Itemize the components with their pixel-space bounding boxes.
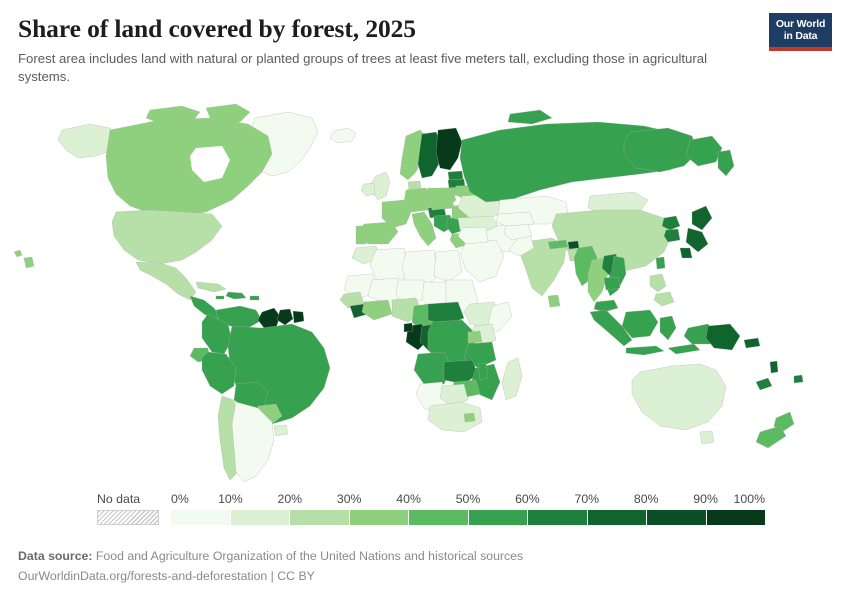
country-central-america[interactable] [190,296,220,320]
legend-color-bins[interactable] [171,510,765,525]
owid-logo-line1: Our World [776,18,825,30]
legend-bin-90to100[interactable] [707,510,766,525]
owid-logo-line2: in Data [784,30,818,42]
country-cambodia[interactable] [604,277,620,290]
country-vanuatu[interactable] [770,361,778,373]
legend-ticks: 0%10%20%30%40%50%60%70%80%90%100% [171,492,765,508]
country-lesser-sunda[interactable] [668,344,700,354]
country-czech-slovakia[interactable] [430,199,454,210]
legend-tick-40pct: 40% [396,492,421,506]
legend-bin-40to50[interactable] [409,510,469,525]
country-japan-kyushu[interactable] [680,248,692,258]
legend-nodata-swatch[interactable] [97,510,159,525]
legend-bin-0to10[interactable] [171,510,231,525]
legend-tick-30pct: 30% [337,492,362,506]
legend-tick-70pct: 70% [574,492,599,506]
country-finland[interactable] [436,128,462,170]
country-iceland[interactable] [330,128,356,143]
legend-tick-10pct: 10% [218,492,243,506]
country-russia-far-east[interactable] [686,136,722,166]
data-source-text: Food and Agriculture Organization of the… [96,549,523,563]
country-hawaii[interactable] [14,250,22,257]
country-saudi-arabia[interactable] [460,240,504,282]
country-indonesia-java[interactable] [626,346,664,355]
data-source-line: Data source: Food and Agriculture Organi… [18,548,818,565]
legend-tick-60pct: 60% [515,492,540,506]
country-uruguay[interactable] [274,425,288,436]
country-lesotho[interactable] [464,413,475,422]
country-japan[interactable] [692,206,712,230]
owid-url-line[interactable]: OurWorldinData.org/forests-and-deforesta… [18,568,818,585]
country-puerto-rico[interactable] [250,296,259,300]
country-philippines[interactable] [650,274,666,292]
country-united-states[interactable] [112,210,222,264]
world-choropleth-map[interactable] [0,100,850,490]
country-jamaica[interactable] [216,296,224,299]
country-kamchatka[interactable] [718,150,734,176]
country-guyana[interactable] [258,308,280,328]
world-map-svg[interactable] [0,100,850,490]
owid-logo[interactable]: Our World in Data [769,13,832,51]
country-new-zealand-south[interactable] [756,426,786,448]
country-tasmania[interactable] [700,431,714,444]
country-cuba[interactable] [196,282,226,292]
countries-layer [14,104,803,482]
country-solomon-islands[interactable] [744,338,760,348]
country-united-kingdom[interactable] [372,172,390,200]
country-estonia[interactable] [448,171,463,180]
legend-bin-80to90[interactable] [647,510,707,525]
legend-bin-70to80[interactable] [588,510,648,525]
country-central-asia[interactable] [496,212,534,226]
country-sri-lanka[interactable] [548,295,560,307]
data-source-label: Data source: [18,549,93,563]
country-taiwan[interactable] [656,257,665,269]
country-russia-east[interactable] [624,128,698,172]
country-canada-arctic-2[interactable] [206,104,250,122]
country-mexico[interactable] [136,262,196,300]
legend-tick-80pct: 80% [634,492,659,506]
country-portugal[interactable] [356,226,366,244]
map-legend: No data 0%10%20%30%40%50%60%70%80%90%100… [0,492,850,537]
country-ivory-coast-ghana[interactable] [362,300,392,320]
legend-bin-60to70[interactable] [528,510,588,525]
country-hawaii-2[interactable] [24,257,34,268]
country-new-caledonia[interactable] [756,378,772,390]
legend-tick-100pct: 100% [734,492,765,506]
legend-nodata-label: No data [97,492,140,506]
country-bhutan[interactable] [568,241,579,249]
legend-tick-90pct: 90% [693,492,718,506]
country-philippines-south[interactable] [654,292,674,306]
country-hispaniola[interactable] [226,292,246,299]
legend-tick-50pct: 50% [456,492,481,506]
country-russia-arctic-isl[interactable] [508,110,552,124]
country-egypt[interactable] [434,250,462,282]
country-indonesia-sulawesi[interactable] [660,316,676,340]
country-suriname[interactable] [277,309,293,325]
country-madagascar[interactable] [502,358,522,400]
country-fiji[interactable] [794,375,803,383]
legend-tick-0pct: 0% [171,492,189,506]
legend-bin-30to40[interactable] [350,510,410,525]
legend-tick-20pct: 20% [277,492,302,506]
legend-bin-50to60[interactable] [469,510,529,525]
country-canada[interactable] [106,118,272,216]
legend-bin-20to30[interactable] [290,510,350,525]
country-papua-new-guinea[interactable] [706,324,740,350]
chart-subtitle: Forest area includes land with natural o… [18,50,718,85]
country-ireland[interactable] [361,183,375,196]
chart-footer: Data source: Food and Agriculture Organi… [18,548,818,585]
country-uganda[interactable] [468,331,482,343]
country-equatorial-guinea[interactable] [404,323,413,332]
page-title: Share of land covered by forest, 2025 [18,14,416,44]
country-french-guiana[interactable] [293,311,304,323]
country-australia[interactable] [632,364,726,430]
legend-bin-10to20[interactable] [231,510,291,525]
